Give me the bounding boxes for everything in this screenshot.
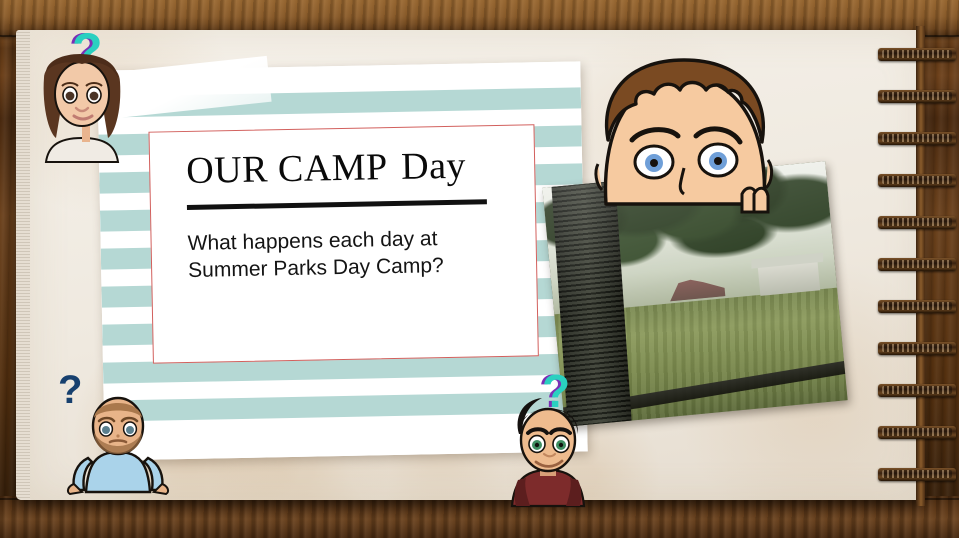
page-title: OUR CAMP Day <box>186 146 517 191</box>
spiral-ring-5 <box>878 254 956 276</box>
avatar-woman: ? <box>32 30 132 150</box>
subtitle-line-2: Summer Parks Day Camp? <box>188 251 518 285</box>
title-underline <box>187 199 487 210</box>
subtitle: What happens each day at Summer Parks Da… <box>187 223 518 285</box>
photo-shed <box>758 261 821 297</box>
avatar-man-black-hair: ? <box>500 372 596 492</box>
spiral-ring-6 <box>878 296 956 318</box>
spiral-ring-7 <box>878 338 956 360</box>
avatar-man-peeking <box>592 44 777 219</box>
spiral-ring-8 <box>878 380 956 402</box>
spiral-ring-4 <box>878 212 956 234</box>
spiral-ring-9 <box>878 422 956 444</box>
slide-canvas: OUR CAMP Day What happens each day at Su… <box>0 0 959 538</box>
title-accent: Day <box>401 145 467 188</box>
spiral-binding <box>878 26 959 506</box>
spiral-ring-1 <box>878 86 956 108</box>
spiral-ring-3 <box>878 170 956 192</box>
avatar-man-bald: ? <box>52 380 156 492</box>
title-main: OUR CAMP <box>186 146 388 192</box>
spiral-ring-10 <box>878 464 956 486</box>
title-panel: OUR CAMP Day What happens each day at Su… <box>148 124 538 363</box>
spiral-ring-2 <box>878 128 956 150</box>
spiral-ring-0 <box>878 44 956 66</box>
